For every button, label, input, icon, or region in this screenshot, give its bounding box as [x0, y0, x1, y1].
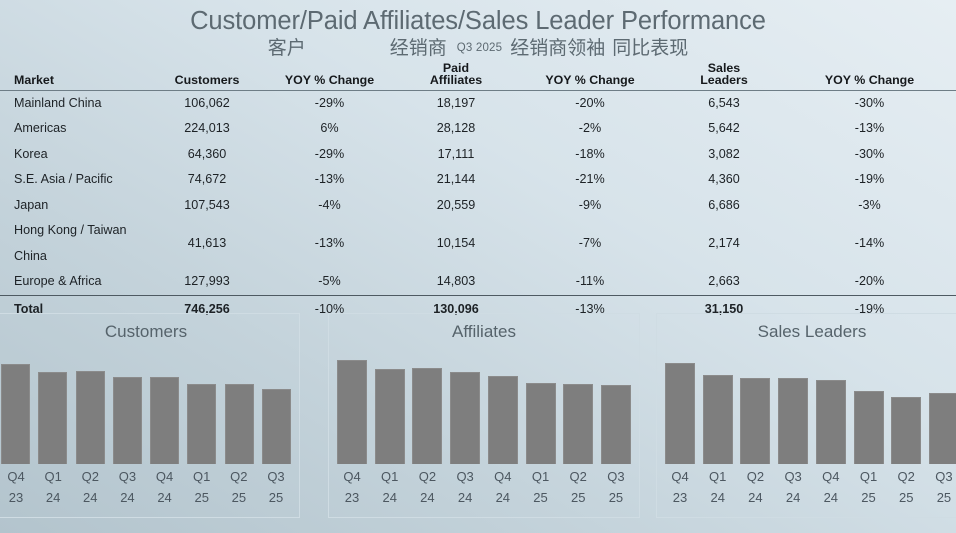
chart-bars-affiliates: [337, 352, 631, 464]
chart-plot-affiliates: [337, 352, 631, 464]
cell-yoy3: -19%: [783, 167, 956, 193]
axis-tick-label: Q125: [187, 466, 217, 512]
cell-affiliates: 10,154: [397, 218, 515, 269]
cell-yoy3: -3%: [783, 193, 956, 219]
axis-tick-year: 24: [375, 487, 405, 508]
bar: [76, 371, 105, 464]
axis-tick-quarter: Q2: [747, 469, 764, 484]
cell-market: S.E. Asia / Pacific: [0, 167, 152, 193]
chart-bars-sales-leaders: [665, 352, 956, 464]
axis-tick-quarter: Q3: [119, 469, 136, 484]
axis-tick-label: Q225: [563, 466, 593, 512]
axis-tick-year: 24: [778, 487, 808, 508]
chart-title-sales-leaders: Sales Leaders: [657, 322, 956, 342]
col-header-affiliates: Paid Affiliates: [397, 60, 515, 90]
axis-tick-label: Q424: [488, 466, 518, 512]
bar: [38, 372, 67, 464]
cell-yoy2: -20%: [515, 90, 665, 116]
axis-tick-label: Q324: [778, 466, 808, 512]
axis-tick-year: 24: [412, 487, 442, 508]
table-row: Japan107,543-4%20,559-9%6,686-3%: [0, 193, 956, 219]
bar: [150, 377, 179, 464]
table-row: Hong Kong / Taiwan China41,613-13%10,154…: [0, 218, 956, 269]
cell-leaders: 2,663: [665, 269, 783, 295]
table-row: Americas224,0136%28,128-2%5,642-13%: [0, 116, 956, 142]
cell-yoy3: -20%: [783, 269, 956, 295]
axis-tick-label: Q224: [740, 466, 770, 512]
cell-yoy1: -13%: [262, 167, 397, 193]
cell-market: Japan: [0, 193, 152, 219]
table-header: Market Customers YOY % Change Paid Affil…: [0, 60, 956, 90]
axis-tick-year: 25: [929, 487, 956, 508]
axis-tick-quarter: Q1: [532, 469, 549, 484]
axis-tick-quarter: Q2: [82, 469, 99, 484]
chart-panel-affiliates: Affiliates Q423Q124Q224Q324Q424Q125Q225Q…: [328, 313, 640, 518]
cell-yoy1: 6%: [262, 116, 397, 142]
axis-tick-quarter: Q4: [343, 469, 360, 484]
bar: [563, 384, 593, 464]
axis-tick-label: Q324: [112, 466, 142, 512]
axis-tick-quarter: Q1: [709, 469, 726, 484]
page-title: Customer/Paid Affiliates/Sales Leader Pe…: [0, 6, 956, 36]
cell-yoy2: -21%: [515, 167, 665, 193]
bar: [703, 375, 733, 464]
axis-tick-year: 24: [816, 487, 846, 508]
bar: [778, 378, 808, 464]
cell-leaders: 4,360: [665, 167, 783, 193]
cell-market: Korea: [0, 142, 152, 168]
title-block: Customer/Paid Affiliates/Sales Leader Pe…: [0, 6, 956, 62]
subtitle-cn-affiliates: 经销商: [390, 36, 447, 62]
axis-tick-quarter: Q4: [671, 469, 688, 484]
bar: [891, 397, 921, 464]
charts-area: Customers Q423Q124Q224Q324Q424Q125Q225Q3…: [0, 313, 956, 533]
axis-tick-year: 23: [1, 487, 31, 508]
axis-tick-label: Q423: [337, 466, 367, 512]
axis-tick-year: 24: [740, 487, 770, 508]
axis-tick-label: Q124: [375, 466, 405, 512]
axis-tick-year: 24: [38, 487, 68, 508]
axis-tick-year: 25: [563, 487, 593, 508]
axis-tick-quarter: Q2: [898, 469, 915, 484]
table-row: Korea64,360-29%17,111-18%3,082-30%: [0, 142, 956, 168]
cell-leaders: 6,686: [665, 193, 783, 219]
chart-panel-sales-leaders: Sales Leaders Q423Q124Q224Q324Q424Q125Q2…: [656, 313, 956, 518]
axis-tick-year: 23: [337, 487, 367, 508]
axis-tick-year: 25: [187, 487, 217, 508]
bar: [412, 368, 442, 464]
bar: [262, 389, 291, 464]
axis-tick-quarter: Q1: [44, 469, 61, 484]
cell-affiliates: 18,197: [397, 90, 515, 116]
bar: [601, 385, 631, 464]
col-header-customers: Customers: [152, 60, 262, 90]
chart-plot-customers: [1, 352, 291, 464]
axis-tick-year: 24: [150, 487, 180, 508]
axis-tick-quarter: Q3: [456, 469, 473, 484]
cell-customers: 224,013: [152, 116, 262, 142]
cell-yoy2: -18%: [515, 142, 665, 168]
axis-tick-quarter: Q4: [7, 469, 24, 484]
bar: [488, 376, 518, 464]
cell-yoy3: -13%: [783, 116, 956, 142]
axis-tick-quarter: Q2: [419, 469, 436, 484]
axis-tick-label: Q325: [261, 466, 291, 512]
axis-tick-year: 25: [224, 487, 254, 508]
cell-market: Americas: [0, 116, 152, 142]
bar: [375, 369, 405, 464]
axis-tick-label: Q325: [601, 466, 631, 512]
cell-yoy2: -9%: [515, 193, 665, 219]
cell-yoy1: -29%: [262, 142, 397, 168]
axis-tick-quarter: Q3: [784, 469, 801, 484]
axis-tick-label: Q423: [1, 466, 31, 512]
axis-tick-year: 25: [891, 487, 921, 508]
axis-tick-label: Q424: [150, 466, 180, 512]
cell-yoy1: -4%: [262, 193, 397, 219]
cell-leaders: 2,174: [665, 218, 783, 269]
chart-title-customers: Customers: [0, 322, 299, 342]
performance-table: Market Customers YOY % Change Paid Affil…: [0, 60, 956, 323]
quarter-label: Q3 2025: [457, 35, 503, 61]
chart-axis-sales-leaders: Q423Q124Q224Q324Q424Q125Q225Q325: [665, 466, 956, 512]
cell-yoy3: -30%: [783, 90, 956, 116]
subtitle-cn-customers: 客户: [268, 36, 306, 62]
cell-yoy1: -29%: [262, 90, 397, 116]
axis-tick-label: Q324: [450, 466, 480, 512]
axis-tick-quarter: Q2: [230, 469, 247, 484]
axis-tick-year: 24: [75, 487, 105, 508]
chart-axis-customers: Q423Q124Q224Q324Q424Q125Q225Q325: [1, 466, 291, 512]
cell-affiliates: 28,128: [397, 116, 515, 142]
axis-tick-year: 25: [526, 487, 556, 508]
cell-affiliates: 17,111: [397, 142, 515, 168]
bar: [113, 377, 142, 464]
cell-leaders: 5,642: [665, 116, 783, 142]
cell-yoy2: -11%: [515, 269, 665, 295]
table-row: Mainland China106,062-29%18,197-20%6,543…: [0, 90, 956, 116]
axis-tick-label: Q124: [703, 466, 733, 512]
cell-customers: 74,672: [152, 167, 262, 193]
axis-tick-label: Q224: [75, 466, 105, 512]
cell-customers: 127,993: [152, 269, 262, 295]
bar: [1, 364, 30, 464]
axis-tick-label: Q224: [412, 466, 442, 512]
axis-tick-quarter: Q3: [607, 469, 624, 484]
axis-tick-year: 24: [703, 487, 733, 508]
axis-tick-year: 25: [261, 487, 291, 508]
table-row: Europe & Africa127,993-5%14,803-11%2,663…: [0, 269, 956, 295]
cell-yoy2: -7%: [515, 218, 665, 269]
subtitle-cn-yoy: 同比表现: [612, 36, 688, 62]
cell-yoy1: -13%: [262, 218, 397, 269]
bar: [665, 363, 695, 464]
axis-tick-quarter: Q1: [860, 469, 877, 484]
cell-customers: 64,360: [152, 142, 262, 168]
cell-yoy2: -2%: [515, 116, 665, 142]
axis-tick-quarter: Q3: [267, 469, 284, 484]
axis-tick-quarter: Q4: [494, 469, 511, 484]
chart-axis-affiliates: Q423Q124Q224Q324Q424Q125Q225Q325: [337, 466, 631, 512]
cell-yoy3: -30%: [783, 142, 956, 168]
axis-tick-year: 23: [665, 487, 695, 508]
axis-tick-label: Q225: [224, 466, 254, 512]
axis-tick-label: Q125: [854, 466, 884, 512]
bar: [187, 384, 216, 464]
cell-affiliates: 21,144: [397, 167, 515, 193]
cell-customers: 107,543: [152, 193, 262, 219]
cell-market: Europe & Africa: [0, 269, 152, 295]
col-header-leaders-line2: Leaders: [700, 73, 748, 87]
axis-tick-year: 24: [112, 487, 142, 508]
bar: [816, 380, 846, 464]
table-header-row: Market Customers YOY % Change Paid Affil…: [0, 60, 956, 90]
axis-tick-quarter: Q1: [193, 469, 210, 484]
axis-tick-label: Q225: [891, 466, 921, 512]
cell-yoy1: -5%: [262, 269, 397, 295]
cell-affiliates: 14,803: [397, 269, 515, 295]
slide-root: Customer/Paid Affiliates/Sales Leader Pe…: [0, 0, 956, 533]
col-header-market: Market: [0, 60, 152, 90]
axis-tick-quarter: Q2: [570, 469, 587, 484]
bar: [526, 383, 556, 464]
bar: [225, 384, 254, 464]
cell-customers: 41,613: [152, 218, 262, 269]
bar: [854, 391, 884, 464]
bar: [740, 378, 770, 464]
table-body: Mainland China106,062-29%18,197-20%6,543…: [0, 90, 956, 323]
col-header-yoy-1: YOY % Change: [262, 60, 397, 90]
cell-customers: 106,062: [152, 90, 262, 116]
bar: [450, 372, 480, 464]
axis-tick-quarter: Q1: [381, 469, 398, 484]
col-header-affiliates-line2: Affiliates: [430, 73, 482, 87]
axis-tick-label: Q423: [665, 466, 695, 512]
axis-tick-year: 25: [601, 487, 631, 508]
cell-leaders: 3,082: [665, 142, 783, 168]
axis-tick-label: Q325: [929, 466, 956, 512]
axis-tick-label: Q125: [526, 466, 556, 512]
subtitle-block: 客户经销商Q3 2025经销商领袖同比表现: [0, 36, 956, 62]
chart-title-affiliates: Affiliates: [329, 322, 639, 342]
cell-leaders: 6,543: [665, 90, 783, 116]
chart-panel-customers: Customers Q423Q124Q224Q324Q424Q125Q225Q3…: [0, 313, 300, 518]
subtitle-cn-sales-leaders: 经销商领袖: [510, 36, 605, 62]
table-row: S.E. Asia / Pacific74,672-13%21,144-21%4…: [0, 167, 956, 193]
axis-tick-quarter: Q4: [156, 469, 173, 484]
cell-affiliates: 20,559: [397, 193, 515, 219]
axis-tick-quarter: Q3: [935, 469, 952, 484]
cell-market: Hong Kong / Taiwan China: [0, 218, 152, 269]
bar: [929, 393, 956, 464]
col-header-leaders: Sales Leaders: [665, 60, 783, 90]
chart-plot-sales-leaders: [665, 352, 956, 464]
chart-bars-customers: [1, 352, 291, 464]
bar: [337, 360, 367, 464]
axis-tick-quarter: Q4: [822, 469, 839, 484]
axis-tick-year: 24: [488, 487, 518, 508]
axis-tick-year: 24: [450, 487, 480, 508]
axis-tick-label: Q424: [816, 466, 846, 512]
axis-tick-label: Q124: [38, 466, 68, 512]
cell-market: Mainland China: [0, 90, 152, 116]
cell-yoy3: -14%: [783, 218, 956, 269]
axis-tick-year: 25: [854, 487, 884, 508]
col-header-yoy-2: YOY % Change: [515, 60, 665, 90]
col-header-yoy-3: YOY % Change: [783, 60, 956, 90]
